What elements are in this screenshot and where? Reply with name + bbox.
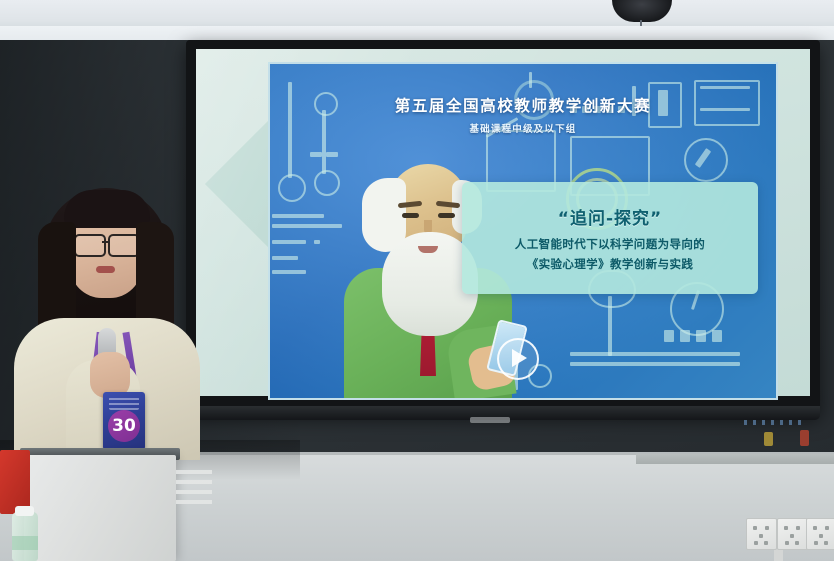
outlet-hole	[790, 534, 794, 538]
outlet-hole	[785, 541, 789, 545]
play-icon[interactable]	[497, 338, 539, 380]
whiteboard-sticker	[764, 432, 773, 446]
video-frame: 第五届全国高校教师教学创新大赛 基础课程中级及以下组 “追问	[0, 0, 834, 561]
outlet-hole	[824, 541, 828, 545]
bar-tick	[712, 330, 722, 342]
text-line	[272, 270, 306, 274]
outlet-hole	[759, 534, 763, 538]
presenter-fringe	[64, 190, 150, 228]
outlet-hole	[825, 526, 829, 530]
scientist-eye-right	[438, 213, 455, 218]
refresh-arrow-icon	[684, 138, 728, 182]
outlet-hole	[796, 526, 800, 530]
slide-text-panel: “追问-探究” 人工智能时代下以科学问题为导向的 《实验心理学》教学创新与实践	[462, 182, 758, 294]
slide-panel-heading: “追问-探究”	[558, 204, 662, 229]
whiteboard-indicator-lights	[744, 420, 804, 425]
presenter-mouth	[96, 266, 115, 273]
bar-tick	[664, 330, 674, 342]
eyeglasses-left-lens	[74, 234, 106, 257]
wall-outlet	[777, 518, 808, 550]
wall-outlet	[746, 518, 777, 550]
text-line	[272, 240, 306, 244]
podium	[24, 455, 176, 561]
thermometer-bulb	[278, 174, 306, 202]
red-box	[0, 450, 30, 514]
bar-tick	[680, 330, 690, 342]
outlet-hole	[814, 541, 818, 545]
target-pin	[529, 72, 532, 88]
slide-title: 第五届全国高校教师教学创新大赛	[270, 94, 776, 116]
slide-panel-line-1: 人工智能时代下以科学问题为导向的	[515, 236, 705, 252]
outlet-hole	[795, 541, 799, 545]
text-line	[272, 214, 324, 218]
podium-vents	[176, 470, 212, 510]
text-line	[272, 256, 298, 260]
outlet-hole	[819, 534, 823, 538]
outlet-hole	[764, 541, 768, 545]
outlet-hole	[753, 526, 757, 530]
water-bottle-cap	[15, 506, 34, 516]
badge-number: 30	[108, 410, 140, 442]
eyeglasses-bridge	[102, 241, 110, 243]
water-bottle-label	[12, 536, 38, 550]
presenter-badge: 30	[103, 392, 145, 450]
text-line	[314, 240, 320, 244]
slide-subtitle: 基础课程中级及以下组	[270, 121, 776, 135]
slide-panel-line-2: 《实验心理学》教学创新与实践	[527, 256, 694, 272]
baseline	[570, 352, 740, 356]
dna-icon	[310, 152, 322, 157]
right-desk-edge	[636, 454, 834, 464]
bar-tick	[696, 330, 706, 342]
slide-header: 第五届全国高校教师教学创新大赛 基础课程中级及以下组	[270, 94, 776, 135]
wall-outlet	[806, 518, 834, 550]
outlet-hole	[813, 526, 817, 530]
whiteboard-sticker	[800, 430, 809, 446]
baseline	[570, 362, 740, 366]
whiteboard-brand-logo	[470, 417, 510, 423]
outlet-hole	[754, 541, 758, 545]
badge-header-text	[109, 397, 139, 410]
outlet-hole	[765, 526, 769, 530]
scientist-eye-left	[402, 213, 419, 218]
outlet-hole	[784, 526, 788, 530]
image-frame-line	[700, 86, 750, 89]
